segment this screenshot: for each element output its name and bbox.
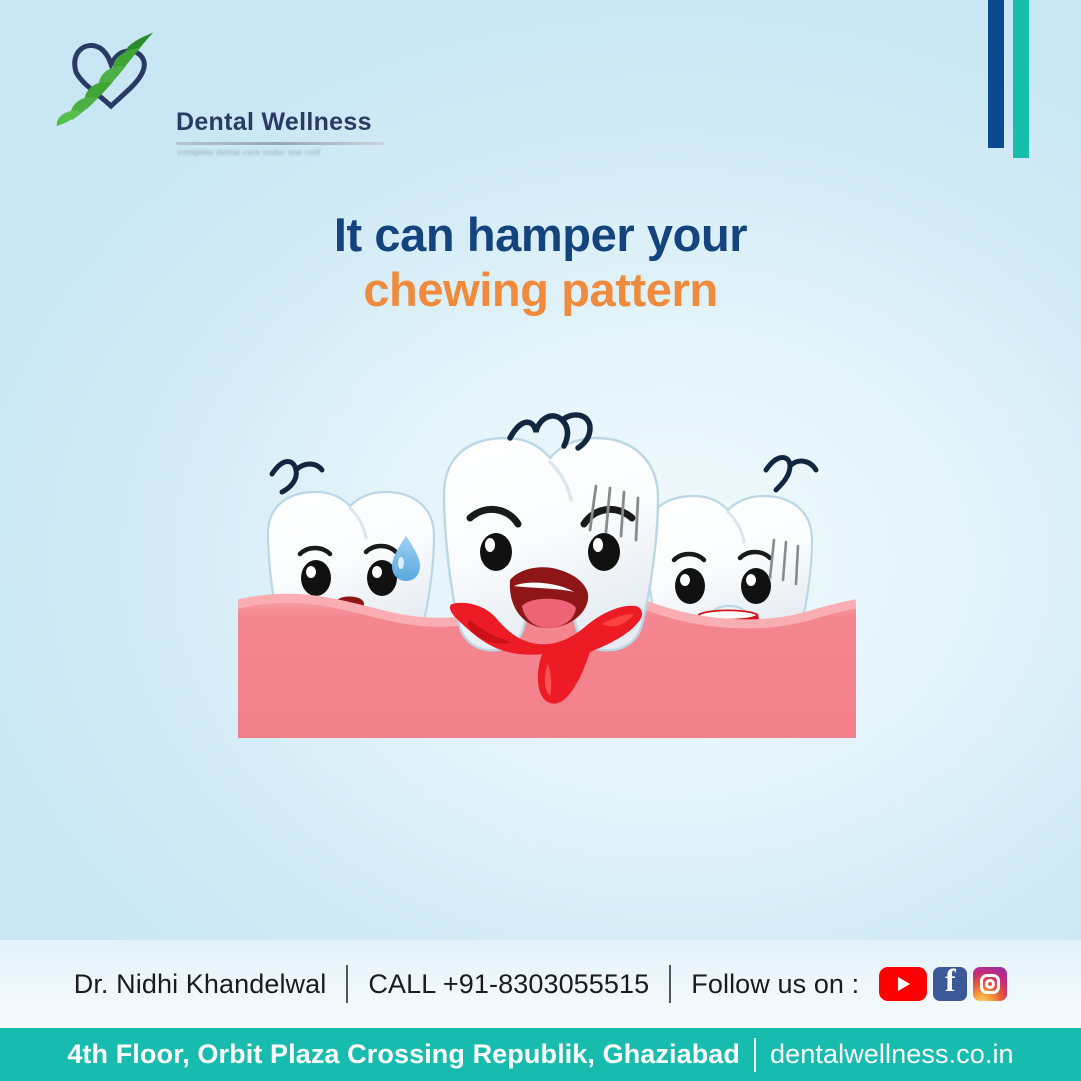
instagram-icon[interactable] [973,967,1007,1001]
brand-tagline: complete dental care under one roof [178,148,388,160]
tooth-heart-feather-icon [48,30,173,135]
separator [346,965,348,1003]
website-url[interactable]: dentalwellness.co.in [770,1039,1014,1070]
headline-line-1: It can hamper your [0,208,1081,263]
decor-bar-teal [1013,0,1029,158]
doctor-name: Dr. Nidhi Khandelwal [74,969,327,1000]
contact-bar: Dr. Nidhi Khandelwal CALL +91-8303055515… [0,940,1081,1028]
follow-label: Follow us on : [691,969,859,1000]
separator [754,1038,756,1072]
teeth-illustration [238,408,856,760]
social-links [879,967,1007,1001]
decor-bar-navy [988,0,1004,148]
poster-canvas: Dental Wellness complete dental care und… [0,0,1081,1081]
separator [669,965,671,1003]
clinic-address: 4th Floor, Orbit Plaza Crossing Republik… [67,1039,740,1070]
brand-name: Dental Wellness [176,108,372,137]
phone-number[interactable]: CALL +91-8303055515 [368,969,649,1000]
facebook-icon[interactable] [933,967,967,1001]
page-title: It can hamper your chewing pattern [0,208,1081,317]
brand-logo[interactable]: Dental Wellness complete dental care und… [48,30,348,145]
youtube-icon[interactable] [879,967,927,1001]
logo-divider [176,142,384,145]
headline-line-2: chewing pattern [0,263,1081,318]
address-bar: 4th Floor, Orbit Plaza Crossing Republik… [0,1028,1081,1081]
